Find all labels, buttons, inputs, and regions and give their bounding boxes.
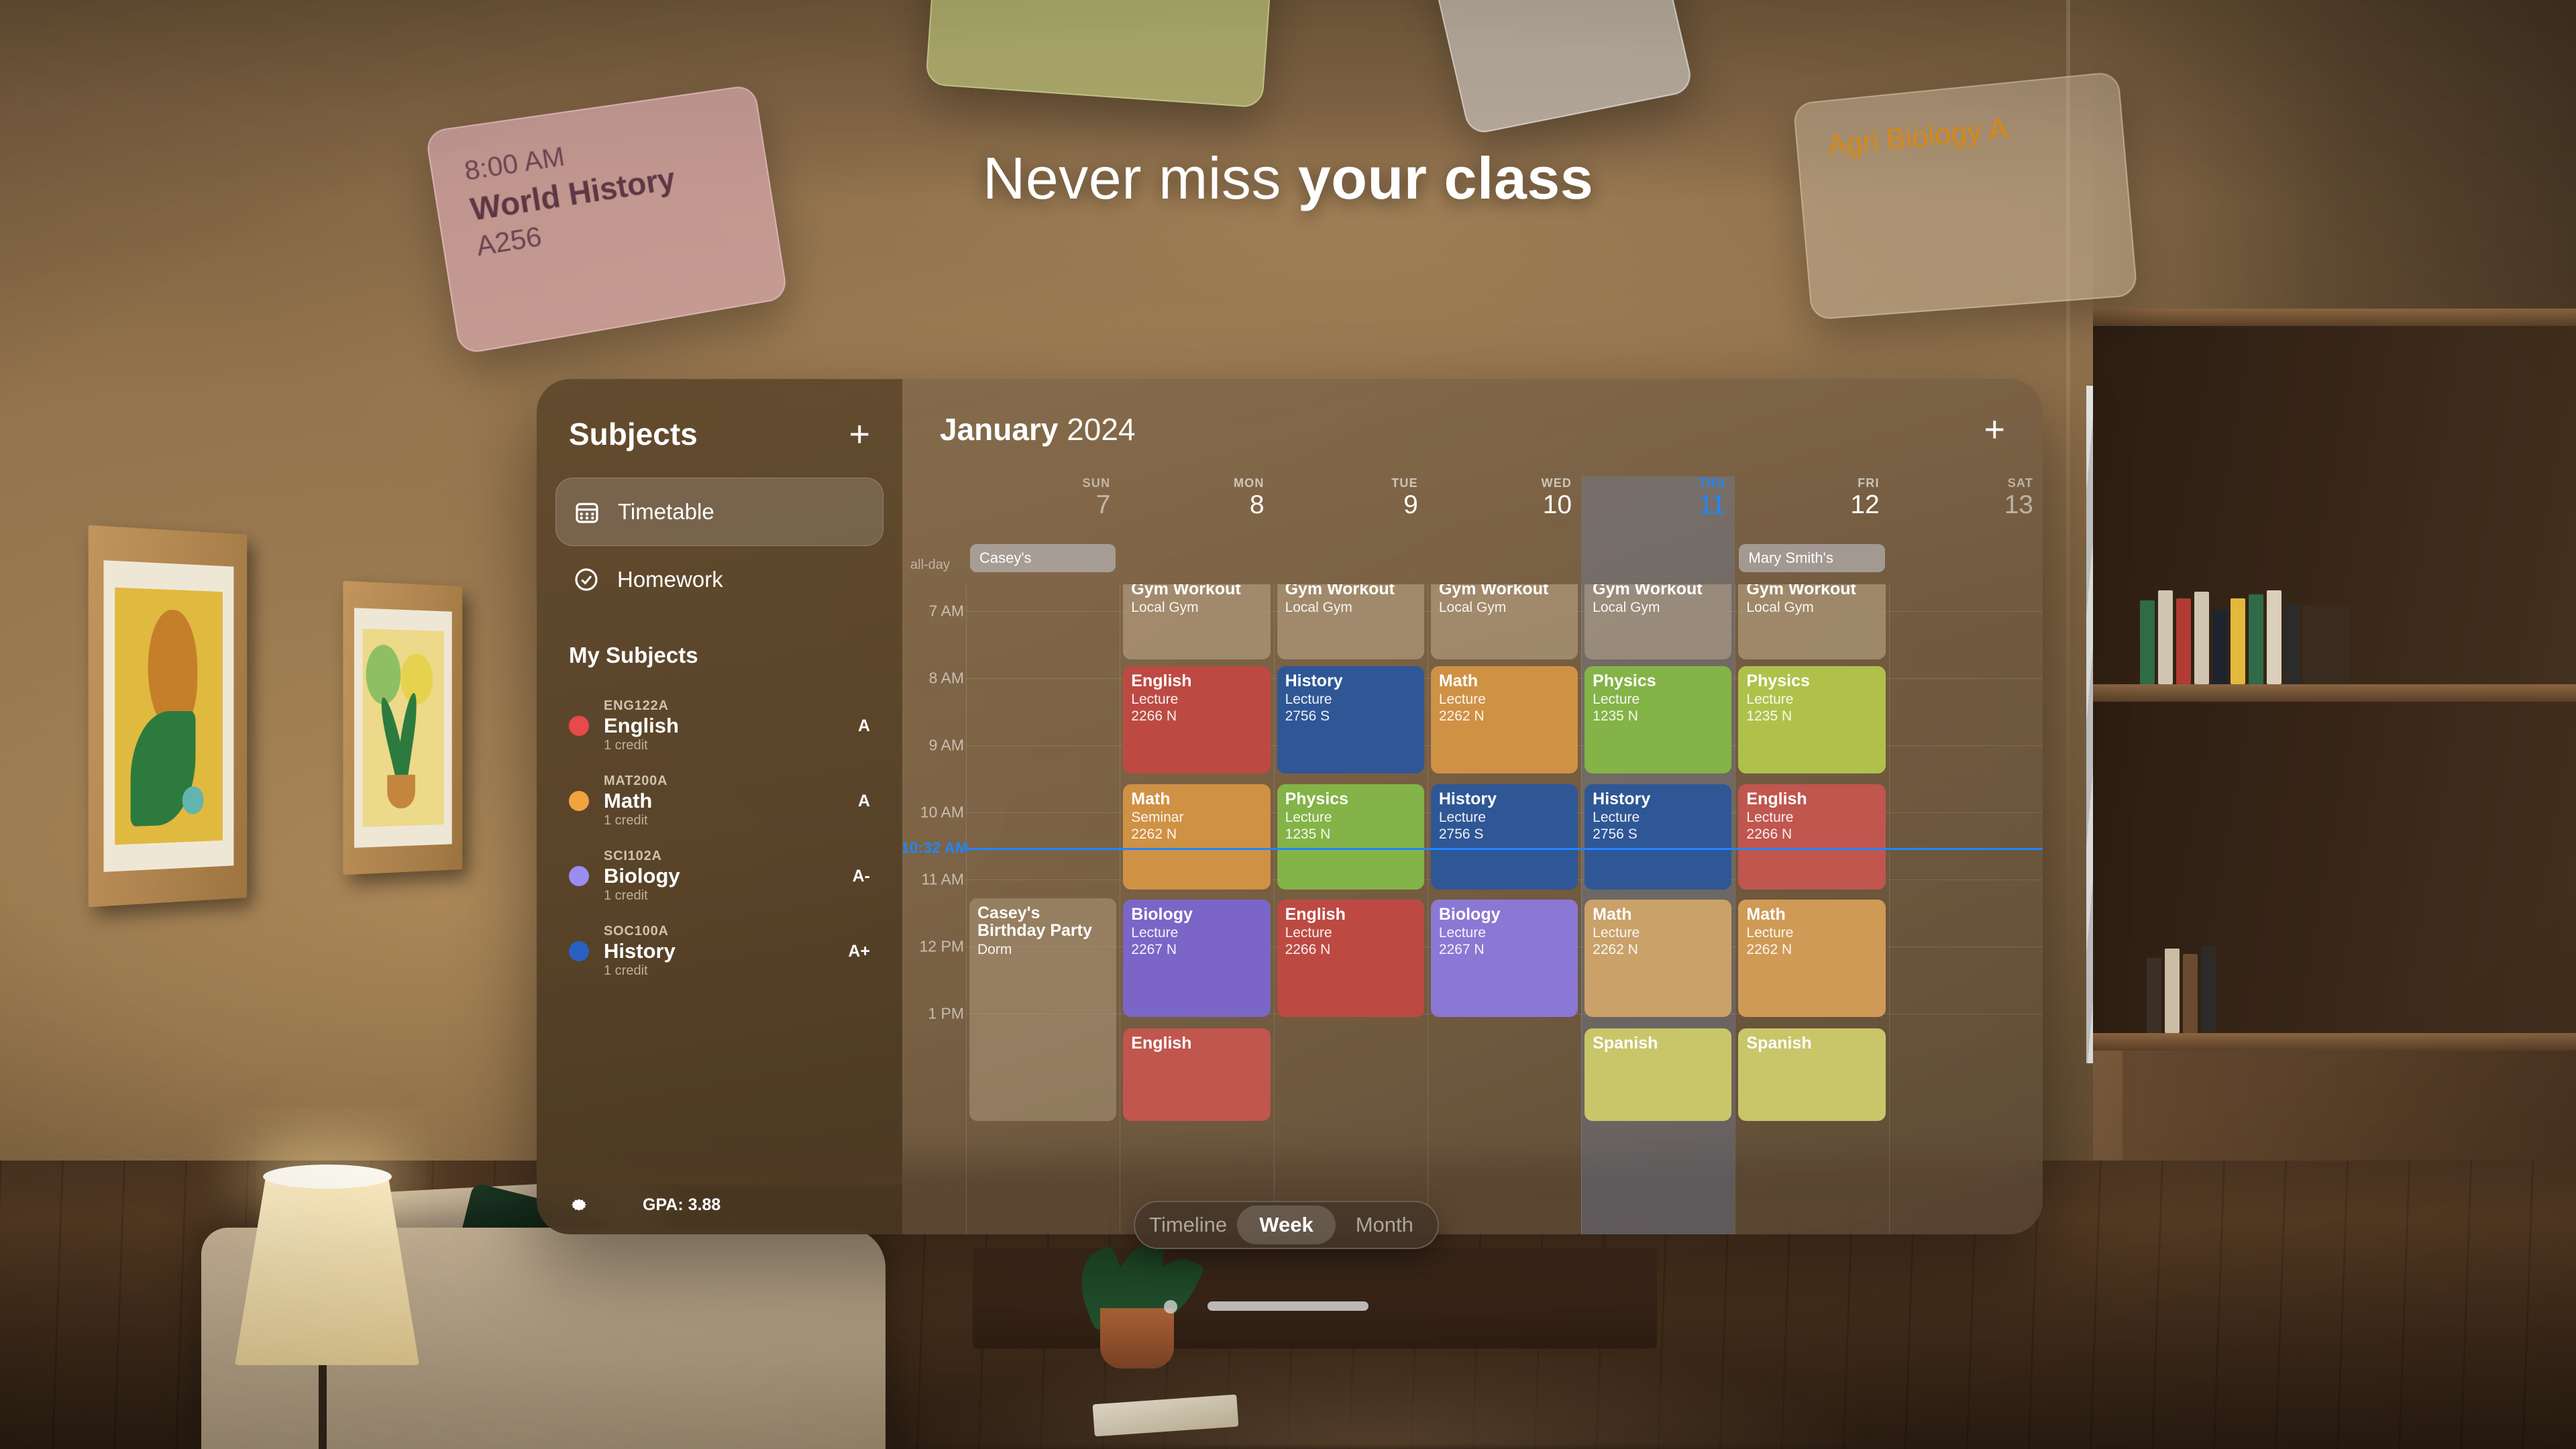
calendar-event[interactable]: Gym WorkoutLocal Gym [1738,584,1885,659]
event-subtitle: Local Gym [1593,600,1723,616]
view-switcher[interactable]: Timeline Week Month [1134,1201,1439,1249]
day-number: 7 [966,492,1110,518]
view-option-month[interactable]: Month [1336,1205,1434,1244]
calendar-event[interactable]: Gym WorkoutLocal Gym [1585,584,1731,659]
subject-list: ENG122AEnglish1 creditAMAT200AMath1 cred… [537,688,902,989]
calendar-icon [574,498,600,525]
event-subtitle: Dorm [977,942,1108,959]
my-subjects-heading: My Subjects [569,643,902,668]
event-subtitle: Local Gym [1746,600,1877,616]
page-title: Never miss your class [0,144,2576,213]
event-title: Gym Workout [1746,584,1877,598]
add-event-button[interactable]: + [1984,411,2005,447]
event-title: History [1439,790,1570,808]
window-drag-bar[interactable] [1207,1301,1368,1311]
event-subtitle: Lecture [1746,692,1877,708]
event-room: 2267 N [1131,942,1262,959]
day-number: 12 [1735,492,1879,518]
subject-code: MAT200A [604,773,667,788]
event-subtitle: Lecture [1285,692,1416,708]
event-subtitle: Local Gym [1439,600,1570,616]
lamp-pole [319,1358,327,1449]
event-room: 2266 N [1131,708,1262,725]
calendar-event[interactable]: EnglishLecture2266 N [1123,666,1270,773]
sidebar-fade [537,1131,902,1185]
subject-code: SCI102A [604,849,662,863]
subject-row[interactable]: ENG122AEnglish1 creditA [569,688,870,763]
calendar-event[interactable]: BiologyLecture2267 N [1123,900,1270,1017]
day-number: 10 [1428,492,1572,518]
subject-credit: 1 credit [604,963,648,978]
gpa-value: GPA: 3.88 [643,1195,720,1215]
calendar-year: 2024 [1067,412,1135,447]
headline-bold: your class [1298,145,1593,211]
event-title: English [1746,790,1877,808]
subject-code: SOC100A [604,924,669,938]
current-time-line [966,848,2043,850]
lamp-bulb-glow [263,1165,392,1189]
calendar-event[interactable]: English [1123,1028,1270,1121]
hour-label: 1 PM [902,1005,964,1023]
column-separator [1581,584,1582,1234]
day-of-week: TUE [1274,476,1418,490]
hour-label: 7 AM [902,602,964,621]
calendar-event[interactable]: MathSeminar2262 N [1123,784,1270,890]
column-separator [1428,584,1428,1234]
event-title: Casey's Birthday Party [977,904,1108,940]
subject-grade: A+ [848,942,870,961]
column-separator [1274,584,1275,1234]
day-number: 8 [1120,492,1264,518]
event-room: 1235 N [1746,708,1877,725]
event-title: English [1131,1034,1262,1052]
event-room: 2756 S [1439,826,1570,843]
day-header-tue[interactable]: TUE9 [1274,476,1428,518]
time-grid[interactable]: 7 AM8 AM9 AM10 AM11 AM12 PM1 PMGym Worko… [902,584,2043,1234]
event-room: 2267 N [1439,942,1570,959]
calendar-event[interactable]: Casey's Birthday PartyDorm [969,898,1116,1121]
calendar-event[interactable]: MathLecture2262 N [1431,666,1578,773]
subject-text: SOC100AHistory1 credit [604,924,848,979]
event-subtitle: Lecture [1131,925,1262,942]
current-time-label: 10:32 AM [902,839,968,857]
calendar-event[interactable]: Gym WorkoutLocal Gym [1277,584,1424,659]
event-title: English [1131,672,1262,690]
calendar-event[interactable]: BiologyLecture2267 N [1431,900,1578,1017]
subject-color-dot [569,866,589,886]
sidebar-item-label: Timetable [618,499,714,525]
calendar-event[interactable]: MathLecture2262 N [1738,900,1885,1017]
day-of-week: FRI [1735,476,1879,490]
timetable-app-window: Subjects + Timetable [537,379,2043,1234]
day-number: 13 [1889,492,2033,518]
headline-light: Never miss [983,145,1298,211]
calendar-event[interactable]: EnglishLecture2266 N [1277,900,1424,1017]
day-header-thu[interactable]: THU11 [1581,476,1735,518]
day-header-sat[interactable]: SAT13 [1889,476,2043,518]
day-of-week: WED [1428,476,1572,490]
plant-pot [1100,1308,1174,1368]
wall-art-left [89,525,248,907]
subject-credit: 1 credit [604,888,648,903]
books [2147,946,2216,1033]
event-subtitle: Lecture [1285,925,1416,942]
shelf-board [2093,309,2576,326]
hour-label: 8 AM [902,669,964,688]
sidebar-item-label: Homework [617,567,723,592]
event-title: Gym Workout [1285,584,1416,598]
event-title: Biology [1439,906,1570,923]
event-title: Biology [1131,906,1262,923]
all-day-event[interactable]: Casey's [970,544,1116,572]
event-room: 1235 N [1285,826,1416,843]
artwork [115,587,223,845]
day-number: 11 [1581,492,1725,518]
event-subtitle: Lecture [1439,925,1570,942]
event-title: Gym Workout [1593,584,1723,598]
day-number: 9 [1274,492,1418,518]
bookshelf [2093,309,2576,1288]
gear-icon[interactable] [569,1195,589,1215]
event-subtitle: Seminar [1131,810,1262,826]
subject-grade: A- [853,867,870,886]
event-title: Math [1746,906,1877,923]
subject-text: ENG122AEnglish1 credit [604,698,858,753]
event-room: 2262 N [1131,826,1262,843]
calendar-event[interactable]: HistoryLecture2756 S [1585,784,1731,890]
shelf-board [2093,1033,2576,1051]
calendar-event[interactable]: PhysicsLecture1235 N [1738,666,1885,773]
day-header-mon[interactable]: MON8 [1120,476,1273,518]
sidebar: Subjects + Timetable [537,379,902,1234]
event-subtitle: Lecture [1593,810,1723,826]
sidebar-title: Subjects [569,416,698,452]
all-day-row: all-day Casey'sMary Smith's [902,540,2043,584]
subject-row[interactable]: SOC100AHistory1 creditA+ [569,914,870,989]
event-subtitle: Lecture [1439,692,1570,708]
event-subtitle: Lecture [1746,810,1877,826]
subject-grade: A [858,792,870,811]
column-separator [1735,584,1735,1234]
calendar-event[interactable]: Spanish [1585,1028,1731,1121]
sidebar-item-timetable[interactable]: Timetable [555,478,883,546]
subject-color-dot [569,716,589,736]
hour-label: 11 AM [902,871,964,889]
event-room: 2262 N [1439,708,1570,725]
subject-text: MAT200AMath1 credit [604,773,858,828]
event-room: 1235 N [1593,708,1723,725]
calendar-event[interactable]: Gym WorkoutLocal Gym [1123,584,1270,659]
all-day-label: all-day [910,557,950,573]
day-header-row: SUN7MON8TUE9WED10THU11FRI12SAT13 [902,476,2043,540]
subject-code: ENG122A [604,698,669,713]
event-title: Physics [1285,790,1416,808]
wall-art-right [343,581,462,875]
subject-grade: A [858,716,870,736]
calendar-event[interactable]: EnglishLecture2266 N [1738,784,1885,890]
event-subtitle: Lecture [1285,810,1416,826]
event-subtitle: Local Gym [1285,600,1416,616]
event-title: Gym Workout [1439,584,1570,598]
column-separator [1120,584,1120,1234]
subject-name: Math [604,789,652,812]
calendar-event[interactable]: HistoryLecture2756 S [1431,784,1578,890]
event-title: Spanish [1746,1034,1877,1052]
subject-name: Biology [604,864,680,888]
subject-credit: 1 credit [604,738,648,753]
event-room: 2262 N [1593,942,1723,959]
calendar-header: January 2024 + [902,379,2043,447]
event-title: Spanish [1593,1034,1723,1052]
window-resize-handle[interactable] [1164,1300,1177,1313]
artwork [363,629,444,827]
add-subject-button[interactable]: + [849,416,870,452]
day-header-sun[interactable]: SUN7 [966,476,1120,518]
calendar-event[interactable]: HistoryLecture2756 S [1277,666,1424,773]
event-title: English [1285,906,1416,923]
subject-color-dot [569,791,589,811]
subject-row[interactable]: SCI102ABiology1 creditA- [569,839,870,914]
sidebar-footer: GPA: 3.88 [537,1185,902,1234]
day-header-fri[interactable]: FRI12 [1735,476,1888,518]
view-option-timeline[interactable]: Timeline [1139,1205,1237,1244]
event-title: Physics [1593,672,1723,690]
lamp-shade [235,1174,419,1365]
calendar-event[interactable]: PhysicsLecture1235 N [1585,666,1731,773]
event-title: Math [1439,672,1570,690]
day-of-week: THU [1581,476,1725,490]
event-title: Gym Workout [1131,584,1262,598]
event-title: History [1285,672,1416,690]
event-room: 2262 N [1746,942,1877,959]
day-header-wed[interactable]: WED10 [1428,476,1581,518]
calendar-event[interactable]: Spanish [1738,1028,1885,1121]
event-subtitle: Local Gym [1131,600,1262,616]
event-room: 2266 N [1285,942,1416,959]
calendar-event[interactable]: Gym WorkoutLocal Gym [1431,584,1578,659]
event-subtitle: Lecture [1593,925,1723,942]
shelf-board [2093,684,2576,702]
subject-credit: 1 credit [604,813,648,828]
column-separator [966,584,967,1234]
column-separator [1889,584,1890,1234]
subject-name: History [604,939,676,963]
subject-text: SCI102ABiology1 credit [604,849,853,904]
event-room: 2756 S [1285,708,1416,725]
event-title: Math [1131,790,1262,808]
day-of-week: SUN [966,476,1110,490]
calendar-month: January [940,412,1058,447]
event-room: 2266 N [1746,826,1877,843]
event-title: Math [1593,906,1723,923]
calendar-event[interactable]: PhysicsLecture1235 N [1277,784,1424,890]
calendar-event[interactable]: MathLecture2262 N [1585,900,1731,1017]
hour-label: 9 AM [902,737,964,755]
day-of-week: MON [1120,476,1264,490]
calendar-title: January 2024 [940,411,1136,447]
sidebar-nav: Timetable Homework [555,478,883,613]
subject-row[interactable]: MAT200AMath1 creditA [569,763,870,839]
day-of-week: SAT [1889,476,2033,490]
view-option-week[interactable]: Week [1237,1205,1335,1244]
subject-color-dot [569,941,589,961]
all-day-event[interactable]: Mary Smith's [1739,544,1884,572]
calendar-panel: January 2024 + SUN7MON8TUE9WED10THU11FRI… [902,379,2043,1234]
hour-label: 10 AM [902,804,964,822]
event-subtitle: Lecture [1439,810,1570,826]
event-subtitle: Lecture [1131,692,1262,708]
sidebar-header: Subjects + [537,379,902,452]
check-circle-icon [573,566,600,593]
subject-name: English [604,714,679,737]
event-title: Physics [1746,672,1877,690]
event-room: 2756 S [1593,826,1723,843]
event-subtitle: Lecture [1593,692,1723,708]
event-subtitle: Lecture [1746,925,1877,942]
event-title: History [1593,790,1723,808]
books [2140,590,2350,684]
sidebar-item-homework[interactable]: Homework [555,546,883,613]
hour-label: 12 PM [902,938,964,956]
